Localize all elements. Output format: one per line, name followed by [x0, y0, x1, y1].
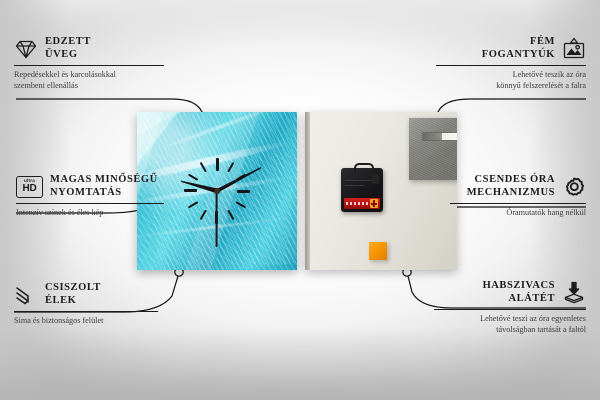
glass-edge-strip: [305, 112, 310, 270]
callout-header: EDZETT ÜVEG: [14, 36, 180, 61]
callout-subtitle-line1: Repedésekkel és karcolásokkal: [14, 70, 180, 81]
battery-plus-terminal: [370, 199, 378, 208]
callout-header: ultra HD MAGAS MINŐSÉGŰ NYOMTATÁS: [16, 174, 196, 199]
callout-divider: [14, 311, 158, 312]
metal-grain-texture: [409, 118, 457, 180]
callout-subtitle-line1: Lehetővé teszik az óra: [418, 70, 586, 81]
callout-header: CSISZOLT ÉLEK: [14, 282, 174, 307]
callout-header: FÉM FOGANTYÚK: [418, 36, 586, 61]
callout-csendes-ora-mechanizmus: CSENDES ÓRA MECHANIZMUS Óramutatók hang …: [434, 174, 586, 219]
foam-pad-press-icon: [562, 281, 586, 305]
callout-subtitle-line2: távolságban tartását a faltól: [416, 325, 586, 336]
infographic-canvas: EDZETT ÜVEG Repedésekkel és karcolásokka…: [0, 0, 600, 400]
callout-fem-fogantyuk: FÉM FOGANTYÚK Lehetővé teszik az óra kön…: [418, 36, 586, 91]
callout-title: MAGAS MINŐSÉGŰ NYOMTATÁS: [50, 174, 158, 199]
callout-title: HABSZIVACS ALÁTÉT: [483, 280, 555, 305]
ultra-hd-hd-text: HD: [22, 184, 36, 194]
callout-divider: [434, 309, 586, 310]
mechanism-button: [372, 175, 379, 184]
callout-subtitle-line1: Sima és biztonságos felület: [14, 316, 174, 327]
polished-edges-icon: [14, 283, 38, 307]
quartz-clock-mechanism: [341, 168, 383, 212]
callout-subtitle-line2: szembeni ellenállás: [14, 81, 180, 92]
callout-divider: [16, 203, 164, 204]
callout-divider: [14, 65, 164, 66]
callout-habszivacs-alatet: HABSZIVACS ALÁTÉT Lehetővé teszi az óra …: [416, 280, 586, 335]
battery-label-stripe: [346, 202, 370, 205]
ultra-hd-badge-icon: ultra HD: [16, 176, 43, 198]
callout-csiszolt-elek: CSISZOLT ÉLEK Sima és biztonságos felüle…: [14, 282, 174, 327]
clock-center-cap: [214, 188, 220, 194]
foam-spacer-pad: [369, 242, 387, 260]
callout-subtitle-line2: könnyű felszerelését a falra: [418, 81, 586, 92]
mechanism-detail-line-1: [345, 180, 373, 181]
diamond-icon: [14, 37, 38, 61]
callout-header: CSENDES ÓRA MECHANIZMUS: [434, 174, 586, 199]
callout-title: CSENDES ÓRA MECHANIZMUS: [467, 174, 555, 199]
callout-title: EDZETT ÜVEG: [45, 36, 91, 61]
picture-hanger-icon: [562, 37, 586, 61]
mechanism-detail-line-2: [345, 185, 365, 186]
callout-subtitle-line1: Intenzív színek és éles kép: [16, 208, 196, 219]
callout-header: HABSZIVACS ALÁTÉT: [416, 280, 586, 305]
mechanism-hanging-loop: [354, 163, 374, 174]
callout-subtitle-line1: Lehetővé teszi az óra egyenletes: [416, 314, 586, 325]
callout-divider: [436, 65, 586, 66]
callout-edzett-uveg: EDZETT ÜVEG Repedésekkel és karcolásokka…: [14, 36, 180, 91]
gear-icon: [562, 175, 586, 199]
callout-magas-minosegu-nyomtatas: ultra HD MAGAS MINŐSÉGŰ NYOMTATÁS Intenz…: [16, 174, 196, 219]
hanger-slot: [422, 132, 457, 141]
callout-title: FÉM FOGANTYÚK: [482, 36, 555, 61]
callout-title: CSISZOLT ÉLEK: [45, 282, 101, 307]
callout-divider: [450, 203, 586, 204]
clock-second-hand: [216, 191, 218, 247]
callout-subtitle-line1: Óramutatók hang nélkül: [434, 208, 586, 219]
battery: [344, 198, 380, 209]
metal-hanger-plate: [409, 118, 457, 180]
